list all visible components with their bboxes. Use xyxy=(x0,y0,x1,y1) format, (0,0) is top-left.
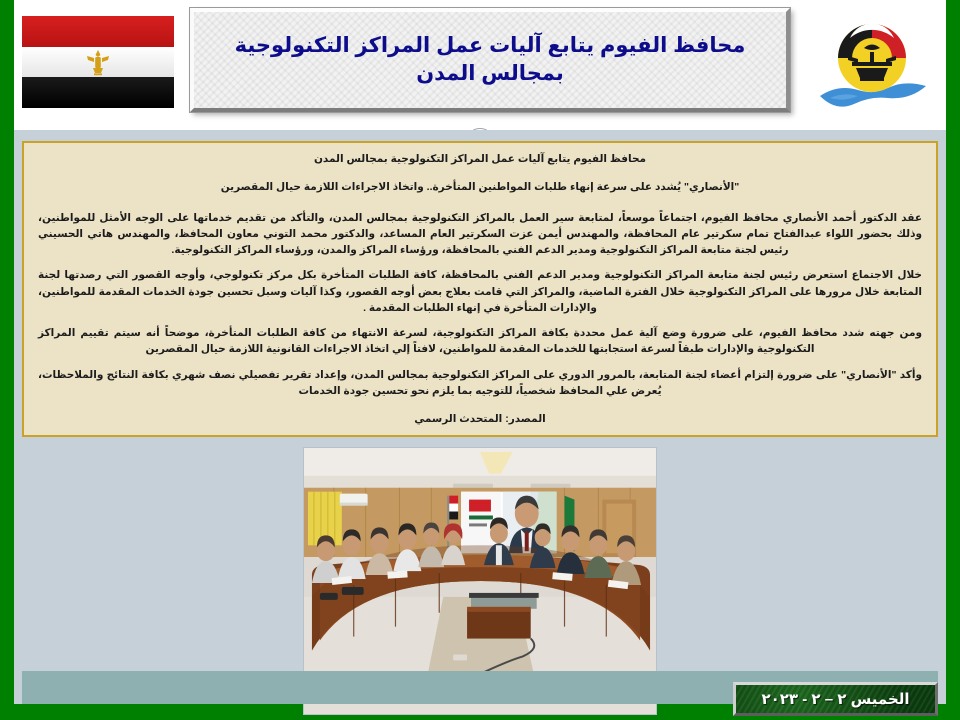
egypt-flag-image xyxy=(22,16,174,108)
egypt-flag xyxy=(22,16,174,108)
date-plate: الخميس ٢ – ٢ - ٢٠٢٣ xyxy=(733,682,938,716)
slide-header: محافظ الفيوم يتابع آليات عمل المراكز الت… xyxy=(14,0,946,130)
press-slide: محافظ الفيوم يتابع آليات عمل المراكز الت… xyxy=(0,0,960,720)
emblem-graphic xyxy=(812,12,932,120)
article-paragraph: وأكد "الأنصاري" على ضرورة إلتزام أعضاء ل… xyxy=(38,367,922,400)
frame-border-left xyxy=(0,0,14,720)
article-paragraph: عقد الدكتور أحمد الأنصاري محافظ الفيوم، … xyxy=(38,210,922,259)
article-subheading: "الأنصاري" يُشدد على سرعة إنهاء طلبات ال… xyxy=(38,179,922,195)
fayoum-governorate-emblem xyxy=(812,12,932,120)
flag-band-red xyxy=(22,16,174,47)
headline-text: محافظ الفيوم يتابع آليات عمل المراكز الت… xyxy=(206,32,774,89)
article-lead: محافظ الفيوم يتابع آليات عمل المراكز الت… xyxy=(38,151,922,167)
article-paragraph: ومن جهته شدد محافظ الفيوم، على ضرورة وضع… xyxy=(38,325,922,358)
article-paragraph: خلال الاجتماع استعرض رئيس لجنة متابعة ال… xyxy=(38,267,922,316)
eagle-of-saladin-icon xyxy=(81,45,115,79)
flag-band-black xyxy=(22,77,174,108)
article-source: المصدر: المتحدث الرسمي xyxy=(38,411,922,427)
headline-plaque: محافظ الفيوم يتابع آليات عمل المراكز الت… xyxy=(190,8,790,112)
date-text: الخميس ٢ – ٢ - ٢٠٢٣ xyxy=(761,690,909,708)
frame-border-right xyxy=(946,0,960,720)
article-panel: محافظ الفيوم يتابع آليات عمل المراكز الت… xyxy=(22,141,938,437)
